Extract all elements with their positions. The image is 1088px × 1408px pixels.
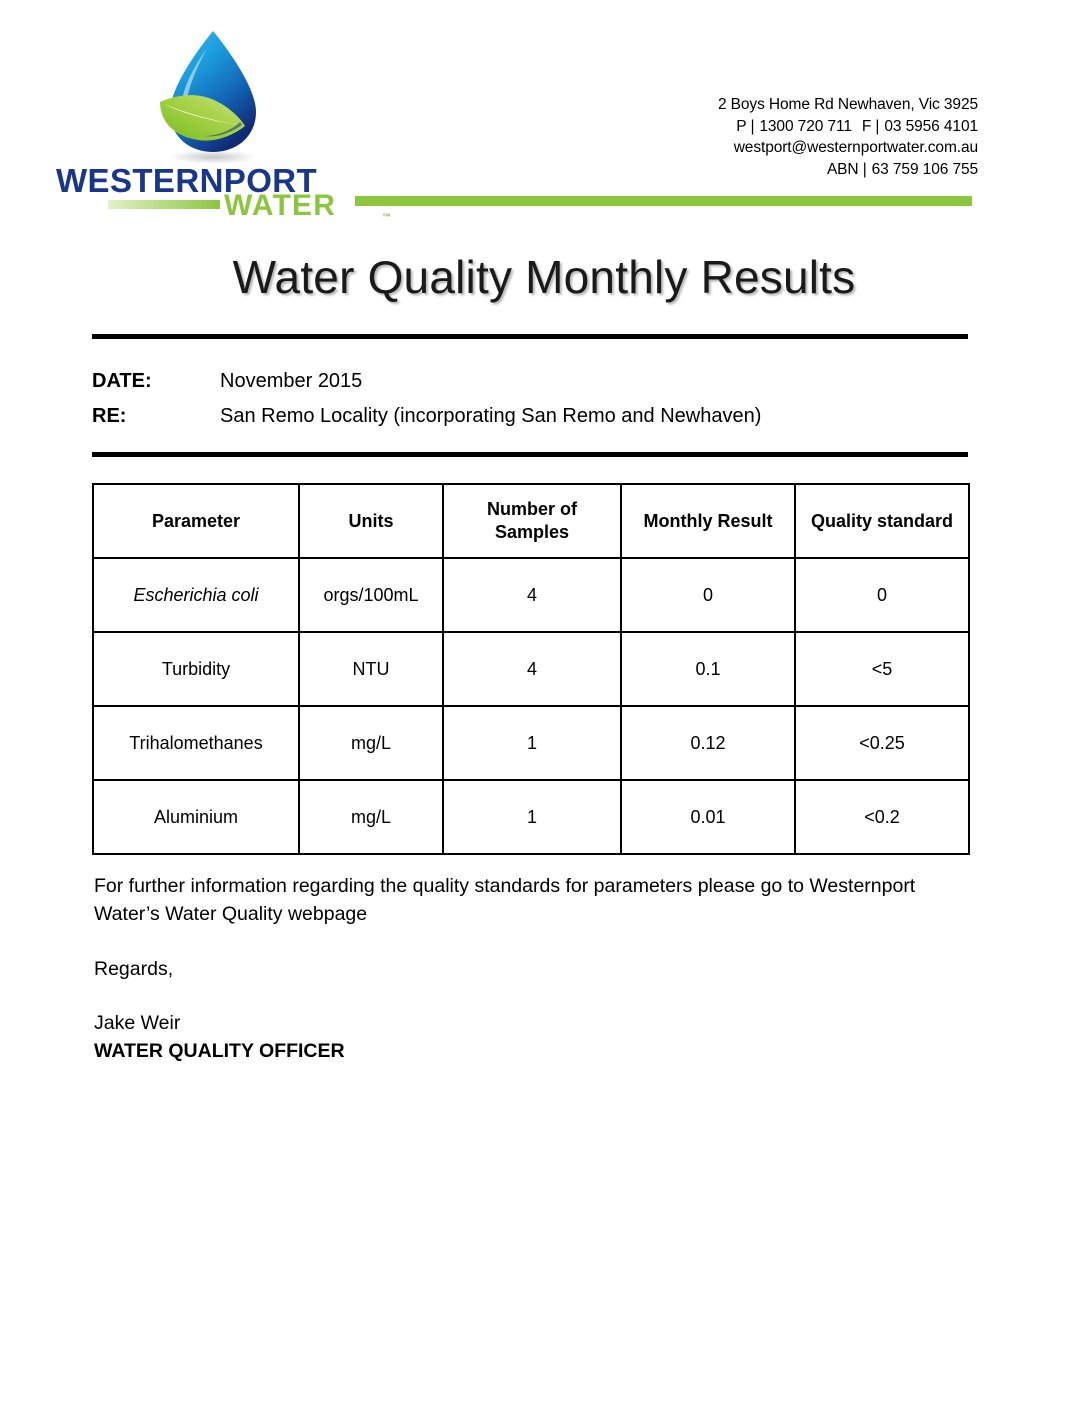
cell-quality-standard: <5 xyxy=(795,632,969,706)
document-page: WESTERNPORT WATER ™ 2 Boys Home Rd Newha… xyxy=(0,0,1088,1408)
cell-monthly-result: 0.12 xyxy=(621,706,795,780)
header-number-of-samples: Number of Samples xyxy=(443,484,621,558)
cell-samples: 4 xyxy=(443,558,621,632)
cell-quality-standard: <0.2 xyxy=(795,780,969,854)
document-meta: DATE: November 2015 RE: San Remo Localit… xyxy=(92,368,972,438)
abn-label: ABN | xyxy=(827,161,867,178)
header-samples-line1: Number of xyxy=(487,499,577,519)
header-samples-line2: Samples xyxy=(495,522,569,542)
meta-row-re: RE: San Remo Locality (incorporating San… xyxy=(92,403,972,438)
cell-units: NTU xyxy=(299,632,443,706)
header-green-rule xyxy=(355,196,972,206)
page-header: WESTERNPORT WATER ™ 2 Boys Home Rd Newha… xyxy=(0,0,1088,220)
header-units: Units xyxy=(299,484,443,558)
footer-text-block: For further information regarding the qu… xyxy=(94,872,962,1065)
signer-name: Jake Weir xyxy=(94,1009,962,1037)
contact-phone-fax: P |1300 720 711F |03 5956 4101 xyxy=(718,116,978,138)
meta-row-date: DATE: November 2015 xyxy=(92,368,972,403)
cell-units: orgs/100mL xyxy=(299,558,443,632)
fax-number: 03 5956 4101 xyxy=(884,118,978,135)
company-wordmark: WESTERNPORT WATER ™ xyxy=(52,164,372,220)
cell-units: mg/L xyxy=(299,780,443,854)
wordmark-dash xyxy=(108,200,220,209)
re-value: San Remo Locality (incorporating San Rem… xyxy=(220,403,761,429)
phone-label: P | xyxy=(736,118,754,135)
table-row: Aluminium mg/L 1 0.01 <0.2 xyxy=(93,780,969,854)
signer-role: WATER QUALITY OFFICER xyxy=(94,1037,962,1065)
cell-quality-standard: 0 xyxy=(795,558,969,632)
cell-monthly-result: 0.01 xyxy=(621,780,795,854)
cell-samples: 4 xyxy=(443,632,621,706)
header-quality-standard: Quality standard xyxy=(795,484,969,558)
table-row: Trihalomethanes mg/L 1 0.12 <0.25 xyxy=(93,706,969,780)
cell-parameter: Aluminium xyxy=(93,780,299,854)
table-header-row: Parameter Units Number of Samples Monthl… xyxy=(93,484,969,558)
info-paragraph: For further information regarding the qu… xyxy=(94,872,962,928)
contact-details: 2 Boys Home Rd Newhaven, Vic 3925 P |130… xyxy=(718,94,978,180)
cell-parameter: Escherichia coli xyxy=(93,558,299,632)
divider-bottom xyxy=(92,452,968,457)
header-monthly-result: Monthly Result xyxy=(621,484,795,558)
cell-quality-standard: <0.25 xyxy=(795,706,969,780)
phone-number: 1300 720 711 xyxy=(759,118,851,135)
regards-line: Regards, xyxy=(94,955,962,983)
water-droplet-leaf-icon xyxy=(152,26,274,168)
divider-top xyxy=(92,334,968,339)
cell-monthly-result: 0.1 xyxy=(621,632,795,706)
wordmark-water: WATER xyxy=(224,191,336,221)
table-row: Turbidity NTU 4 0.1 <5 xyxy=(93,632,969,706)
re-label: RE: xyxy=(92,403,126,429)
contact-abn: ABN |63 759 106 755 xyxy=(718,159,978,181)
fax-label: F | xyxy=(862,118,880,135)
cell-samples: 1 xyxy=(443,706,621,780)
cell-monthly-result: 0 xyxy=(621,558,795,632)
date-value: November 2015 xyxy=(220,368,362,394)
cell-parameter: Turbidity xyxy=(93,632,299,706)
header-parameter: Parameter xyxy=(93,484,299,558)
cell-units: mg/L xyxy=(299,706,443,780)
page-title: Water Quality Monthly Results xyxy=(0,250,1088,304)
company-logo: WESTERNPORT WATER ™ xyxy=(52,22,372,218)
abn-number: 63 759 106 755 xyxy=(872,161,978,178)
date-label: DATE: xyxy=(92,368,152,394)
contact-address: 2 Boys Home Rd Newhaven, Vic 3925 xyxy=(718,94,978,116)
trademark-icon: ™ xyxy=(382,212,391,222)
table-row: Escherichia coli orgs/100mL 4 0 0 xyxy=(93,558,969,632)
water-quality-results-table: Parameter Units Number of Samples Monthl… xyxy=(92,483,970,855)
cell-samples: 1 xyxy=(443,780,621,854)
contact-email[interactable]: westport@westernportwater.com.au xyxy=(718,137,978,159)
cell-parameter: Trihalomethanes xyxy=(93,706,299,780)
